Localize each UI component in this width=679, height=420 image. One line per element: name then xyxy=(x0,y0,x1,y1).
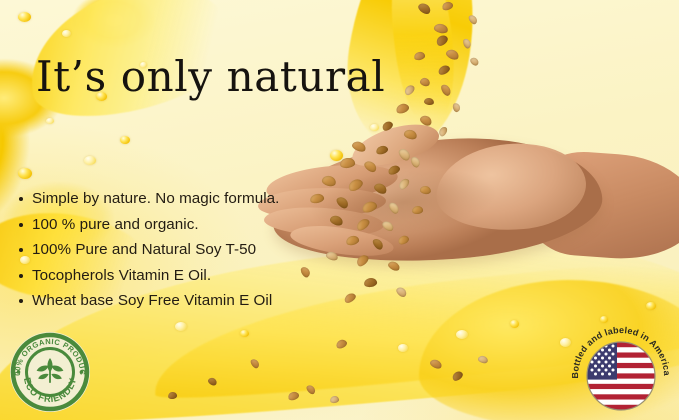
seed xyxy=(429,358,443,370)
seed xyxy=(469,56,480,67)
seed xyxy=(249,357,261,369)
oil-droplet xyxy=(18,12,31,22)
seed xyxy=(335,338,348,350)
made-in-america-seal: Bottled and labeled in America. xyxy=(572,324,670,418)
oil-droplet xyxy=(84,156,96,165)
oil-droplet xyxy=(62,30,71,37)
seed xyxy=(445,48,461,62)
seed xyxy=(413,51,426,61)
product-banner: It’s only natural Simple by nature. No m… xyxy=(0,0,679,420)
seed xyxy=(441,0,454,11)
seed xyxy=(419,77,431,88)
seed xyxy=(424,97,435,105)
seed xyxy=(451,369,465,382)
seed xyxy=(305,383,317,395)
seed xyxy=(433,23,449,35)
seed xyxy=(403,83,416,97)
oil-droplet xyxy=(46,118,54,124)
oil-droplet xyxy=(240,330,249,337)
organic-seal: 100% ORGANIC PRODUCT ECO FRIENDLY xyxy=(8,330,92,414)
oil-droplet xyxy=(175,322,187,331)
oil-droplet xyxy=(120,136,130,144)
list-item: Simple by nature. No magic formula. xyxy=(16,186,346,212)
seed xyxy=(437,64,451,77)
list-item-continuation: Tocopherols Vitamin E Oil. xyxy=(16,263,346,289)
seed xyxy=(329,395,339,404)
seed xyxy=(417,1,433,16)
oil-droplet xyxy=(398,344,408,352)
oil-droplet xyxy=(18,168,32,179)
seed xyxy=(168,391,178,399)
seed xyxy=(207,376,218,387)
seed xyxy=(439,83,452,97)
seed xyxy=(477,355,489,364)
list-item: 100 % pure and organic. xyxy=(16,212,346,238)
page-title: It’s only natural xyxy=(36,56,385,98)
seed xyxy=(435,33,450,48)
feature-list: Simple by nature. No magic formula. 100 … xyxy=(16,186,346,314)
seed xyxy=(462,38,472,50)
oil-droplet xyxy=(560,338,571,347)
oil-droplet xyxy=(456,330,468,339)
list-item: Wheat base Soy Free Vitamin E Oil xyxy=(16,288,346,314)
seed xyxy=(467,13,479,25)
list-item: 100% Pure and Natural Soy T-50 xyxy=(16,237,346,263)
seed xyxy=(287,390,300,401)
